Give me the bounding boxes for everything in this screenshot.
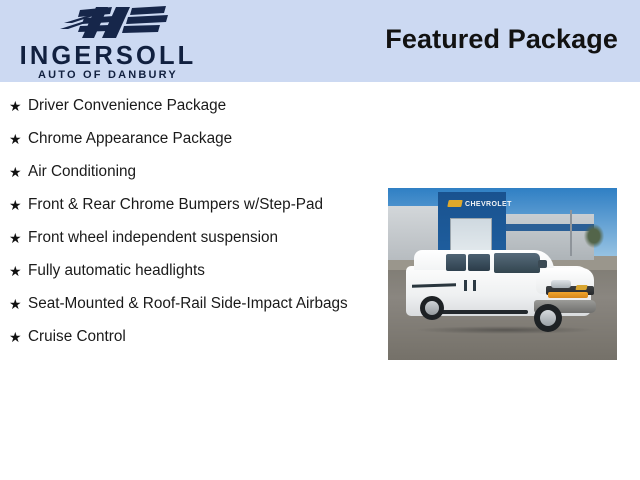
light-pole [570, 210, 572, 256]
vehicle-step-rail [436, 310, 528, 314]
list-item-label: Air Conditioning [28, 162, 380, 182]
vehicle-shadow [414, 326, 596, 334]
chevrolet-bowtie-icon [447, 200, 462, 207]
vehicle-side-mirror [538, 260, 547, 268]
list-item: ★ Air Conditioning [0, 162, 380, 182]
list-item-label: Front wheel independent suspension [28, 228, 380, 248]
vehicle-photo: CHEVROLET [388, 188, 617, 360]
ingersoll-winged-emblem-icon [50, 5, 172, 41]
list-item: ★ Chrome Appearance Package [0, 129, 380, 149]
list-item-label: Chrome Appearance Package [28, 129, 380, 149]
star-bullet-icon: ★ [9, 195, 22, 215]
vehicle-front-wheel [534, 304, 562, 332]
brand-tagline: AUTO OF DANBURY [8, 70, 208, 81]
list-item: ★ Seat-Mounted & Roof-Rail Side-Impact A… [0, 294, 380, 314]
star-bullet-icon: ★ [9, 327, 22, 347]
page-title: Featured Package [385, 24, 618, 55]
vehicle-turn-signal [548, 292, 588, 298]
list-item: ★ Front wheel independent suspension [0, 228, 380, 248]
star-bullet-icon: ★ [9, 96, 22, 116]
list-item: ★ Fully automatic headlights [0, 261, 380, 281]
dealership-building-band [504, 224, 594, 231]
brand-logo: INGERSOLL AUTO OF DANBURY [8, 2, 208, 80]
vehicle-window-front [494, 253, 540, 273]
vehicle-window-middle [468, 254, 490, 271]
list-item-label: Seat-Mounted & Roof-Rail Side-Impact Air… [28, 294, 380, 314]
vehicle-door-handle [473, 280, 476, 291]
dealership-sign-text: CHEVROLET [465, 201, 512, 208]
feature-list: ★ Driver Convenience Package ★ Chrome Ap… [0, 82, 380, 347]
star-bullet-icon: ★ [9, 294, 22, 314]
vehicle-door-handle [464, 280, 467, 291]
list-item-label: Front & Rear Chrome Bumpers w/Step-Pad [28, 195, 380, 215]
list-item: ★ Driver Convenience Package [0, 96, 380, 116]
star-bullet-icon: ★ [9, 129, 22, 149]
vehicle-headlight [551, 280, 571, 288]
list-item-label: Fully automatic headlights [28, 261, 380, 281]
list-item-label: Driver Convenience Package [28, 96, 380, 116]
vehicle-rear-wheel [420, 296, 444, 320]
star-bullet-icon: ★ [9, 162, 22, 182]
header-band: INGERSOLL AUTO OF DANBURY Featured Packa… [0, 0, 640, 82]
star-bullet-icon: ★ [9, 261, 22, 281]
star-bullet-icon: ★ [9, 228, 22, 248]
list-item-label: Cruise Control [28, 327, 380, 347]
list-item: ★ Front & Rear Chrome Bumpers w/Step-Pad [0, 195, 380, 215]
chevrolet-bowtie-icon [575, 285, 587, 290]
tree [584, 224, 604, 248]
brand-wordmark: INGERSOLL [8, 44, 208, 70]
vehicle-window-rear [446, 254, 466, 271]
list-item: ★ Cruise Control [0, 327, 380, 347]
